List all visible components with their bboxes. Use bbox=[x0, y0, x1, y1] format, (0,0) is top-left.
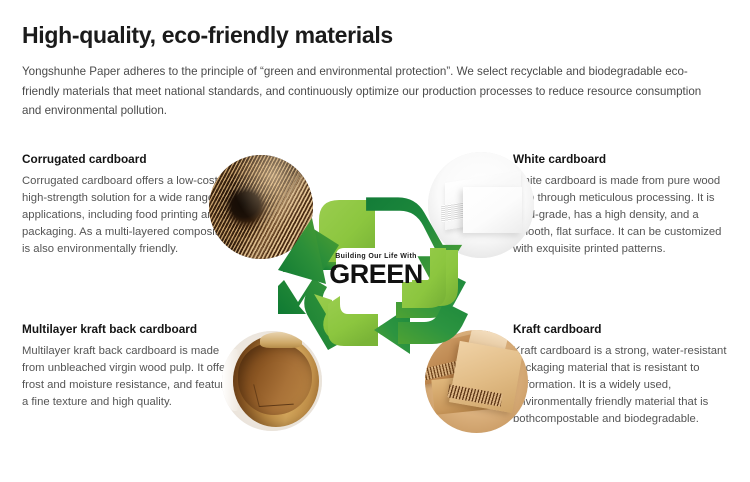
card-body: Kraft cardboard is a strong, water-resis… bbox=[513, 343, 731, 429]
page-header: High-quality, eco-friendly materials Yon… bbox=[22, 22, 722, 120]
card-title: White cardboard bbox=[513, 152, 731, 167]
card-body: Corrugated cardboard offers a low-cost, … bbox=[22, 173, 237, 259]
card-corrugated-cardboard: Corrugated cardboard Corrugated cardboar… bbox=[22, 152, 237, 259]
poster-page: High-quality, eco-friendly materials Yon… bbox=[0, 0, 750, 482]
card-multilayer-kraft-back-cardboard: Multilayer kraft back cardboard Multilay… bbox=[22, 322, 237, 411]
page-intro-paragraph: Yongshunhe Paper adheres to the principl… bbox=[22, 62, 722, 119]
recycle-symbol-icon bbox=[278, 174, 474, 364]
card-title: Kraft cardboard bbox=[513, 322, 731, 337]
card-title: Corrugated cardboard bbox=[22, 152, 237, 167]
card-title: Multilayer kraft back cardboard bbox=[22, 322, 237, 337]
card-kraft-cardboard: Kraft cardboard Kraft cardboard is a str… bbox=[513, 322, 731, 429]
page-title: High-quality, eco-friendly materials bbox=[22, 22, 722, 48]
card-body: White cardboard is made from pure wood p… bbox=[513, 173, 731, 259]
card-body: Multilayer kraft back cardboard is made … bbox=[22, 343, 237, 412]
recycle-arrow-right bbox=[402, 248, 458, 308]
card-white-cardboard: White cardboard White cardboard is made … bbox=[513, 152, 731, 259]
tube-seam-line bbox=[253, 382, 294, 407]
